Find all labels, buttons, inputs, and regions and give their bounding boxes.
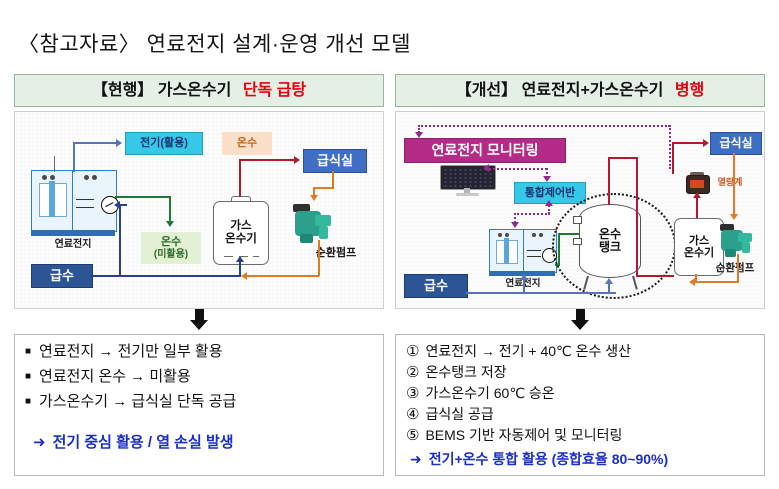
chip-hotwater-unused: 온수 (미활용)	[141, 232, 201, 264]
note-item: ② 온수탱크 저장	[406, 365, 756, 380]
control-line-top-h	[418, 125, 670, 127]
arrowhead-controller-up	[545, 200, 553, 206]
conclusion-text: 전기 중심 활용 / 열 손실 발생	[53, 431, 234, 452]
arrowhead-fuelcell-control	[511, 222, 519, 228]
note-item: ■ 연료전지 → 전기만 일부 활용	[25, 344, 375, 359]
chip-monitoring: 연료전지 모니터링	[404, 138, 566, 163]
panel-improved: 【개선】 연료전지+가스온수기 병행 연료전지 모니터링	[395, 74, 765, 309]
arrowhead-tank-inlet-bottom	[605, 278, 613, 284]
diagram-improved: 연료전지 모니터링 통합제어반	[395, 111, 765, 309]
flow-arrow-left	[14, 306, 384, 332]
page-title: 〈참고자료〉 연료전지 설계·운영 개선 모델	[18, 28, 411, 58]
bullet-icon: ■	[25, 372, 31, 382]
arrowhead-pump-left	[310, 195, 318, 201]
chip-cafeteria-left: 급식실	[303, 149, 367, 173]
note-text: 연료전지 → 전기만 일부 활용	[39, 344, 222, 359]
conclusion-text: 전기+온수 통합 활용 (종합효율 80~90%)	[429, 449, 668, 469]
note-item: ③ 가스온수기 60℃ 승온	[406, 386, 756, 401]
note-text: BEMS 기반 자동제어 및 모니터링	[425, 428, 622, 442]
gas-heater-line1-left: 가스	[230, 220, 251, 232]
gas-heater-line2-right: 온수기	[684, 247, 714, 259]
circulation-pump-left	[291, 204, 335, 244]
chip-cafeteria-right: 급식실	[710, 132, 762, 155]
pipe-pump-return-v	[318, 240, 320, 276]
pipe-heater-to-cafeteria-v	[239, 159, 241, 197]
panel-improved-header-main: 【개선】 연료전지+가스온수기	[456, 82, 664, 99]
slide-page: 〈참고자료〉 연료전지 설계·운영 개선 모델 【현행】 가스온수기 단독 급탕	[0, 0, 779, 489]
pipe-fuelcell-to-electricity-v	[73, 142, 75, 172]
note-item: ■ 연료전지 온수 → 미활용	[25, 369, 375, 384]
pipe-watersupply-right-h	[466, 292, 616, 294]
arrow-right-icon: ➜	[410, 451, 422, 468]
panel-improved-header-highlight: 병행	[675, 82, 704, 99]
conclusion-improved: ➜ 전기+온수 통합 활용 (종합효율 80~90%)	[410, 449, 756, 469]
heat-meter-icon	[686, 172, 708, 192]
pipe-cafeteria-to-pump-right-v	[733, 153, 735, 215]
flow-arrow-right	[395, 306, 765, 332]
note-text: 연료전지 → 전기 + 40℃ 온수 생산	[425, 344, 631, 358]
gas-heater-line2-left: 온수기	[225, 233, 257, 245]
note-item: ① 연료전지 → 전기 + 40℃ 온수 생산	[406, 344, 756, 359]
note-text: 가스온수기 → 급식실 단독 공급	[39, 394, 236, 409]
pipe-heater-to-cafeteria-h	[239, 159, 295, 161]
pipe-cafeteria-to-pump-v	[332, 171, 334, 188]
tank-nozzle-top	[573, 216, 582, 224]
arrowhead-pump-right	[730, 214, 738, 220]
arrow-right-icon: ➜	[33, 433, 46, 451]
pipe-meter-to-cafeteria-v	[672, 142, 674, 174]
pipe-heater-inlet-right	[695, 274, 697, 282]
fuelcell-base-left	[31, 230, 115, 236]
pipe-tank-to-heater-v	[636, 157, 638, 277]
note-item: ④ 급식실 공급	[406, 407, 756, 422]
tank-line2: 탱크	[599, 240, 621, 254]
panel-current: 【현행】 가스온수기 단독 급탕 연료전지	[14, 74, 384, 309]
pipe-fuelcell-to-electricity-h	[73, 142, 117, 144]
pump-label-left: 순환펌프	[303, 246, 369, 260]
arrowhead-cafeteria-right	[703, 139, 709, 147]
panel-improved-header: 【개선】 연료전지+가스온수기 병행	[395, 74, 765, 107]
arrowhead-return-left	[241, 272, 247, 280]
fuelcell-riser-left	[54, 156, 55, 172]
chip-hotwater-unused-line1: 온수	[161, 236, 181, 248]
pipe-tank-top-h	[608, 157, 638, 159]
note-number: ④	[406, 407, 419, 422]
bullet-icon: ■	[25, 397, 31, 407]
notes-current: ■ 연료전지 → 전기만 일부 활용 ■ 연료전지 온수 → 미활용 ■ 가스온…	[14, 334, 384, 476]
hotwater-tank: 온수 탱크	[579, 204, 641, 278]
note-number: ①	[406, 344, 419, 359]
pipe-tank-to-heater-h	[636, 275, 674, 277]
chip-watersupply-right: 급수	[404, 274, 468, 298]
conclusion-current: ➜ 전기 중심 활용 / 열 손실 발생	[33, 431, 375, 452]
pipe-pump-return-right-v	[737, 254, 739, 282]
control-line-top-right-v	[669, 125, 671, 169]
circulation-pump-right	[718, 224, 756, 258]
pipe-pump-return-right-h	[695, 281, 739, 283]
pipe-cafeteria-to-pump-h	[313, 187, 334, 189]
pipe-fuelcell-hotwater-v	[169, 196, 171, 222]
gas-heater-line1-right: 가스	[689, 235, 709, 247]
arrowhead-monitoring-left	[483, 164, 489, 172]
pipe-tank-top-v	[608, 157, 610, 205]
arrowhead-electricity	[116, 139, 122, 147]
pipe-watersupply-to-heater-v	[239, 262, 241, 276]
pump-label-right: 순환펌프	[706, 262, 764, 275]
panel-current-header: 【현행】 가스온수기 단독 급탕	[14, 74, 384, 107]
pipe-watersupply-to-fuelcell-right	[523, 280, 525, 293]
notes-improved: ① 연료전지 → 전기 + 40℃ 온수 생산 ② 온수탱크 저장 ③ 가스온수…	[395, 334, 765, 476]
note-number: ⑤	[406, 428, 419, 443]
arrowhead-cafeteria-left	[294, 156, 300, 164]
note-text: 급식실 공급	[425, 407, 493, 421]
note-item: ■ 가스온수기 → 급식실 단독 공급	[25, 394, 375, 409]
note-text: 온수탱크 저장	[425, 365, 506, 379]
note-number: ③	[406, 386, 419, 401]
control-line-controller-to-monitoring	[489, 168, 547, 170]
chip-electricity: 전기(활용)	[125, 132, 203, 155]
fuelcell-label-left: 연료전지	[41, 238, 105, 251]
arrowhead-heater-inlet	[236, 256, 244, 262]
bullet-icon: ■	[25, 347, 31, 357]
panel-current-header-highlight: 단독 급탕	[243, 82, 306, 99]
tank-nozzle-mid	[573, 238, 582, 245]
arrowhead-meter-inlet	[693, 192, 701, 198]
pipe-watersupply-to-tank-right	[608, 284, 610, 293]
pipe-watersupply-h	[91, 275, 241, 277]
arrowhead-fuelcell-inlet-left	[114, 201, 120, 209]
note-number: ②	[406, 365, 419, 380]
chip-hotwater-unused-line2: (미활용)	[154, 249, 188, 260]
pipe-fuelcell-hotwater-h	[115, 196, 171, 198]
heat-meter-label: 열량계	[710, 176, 750, 188]
pipe-heater-to-meter-v	[696, 198, 698, 218]
diagram-current: 연료전지 전기(활용) 온수 (미활용) 온수 가스 온수기	[14, 111, 384, 309]
note-item: ⑤ BEMS 기반 자동제어 및 모니터링	[406, 428, 756, 443]
arrowhead-hotwater-unused	[166, 221, 174, 227]
panel-current-header-main: 【현행】 가스온수기	[92, 82, 232, 99]
arrowhead-fuelcell-inlet-right	[520, 274, 528, 280]
pipe-watersupply-to-fuelcell-v	[119, 204, 121, 276]
control-line-controller-to-fuelcell-h	[514, 213, 550, 215]
chip-hotwater: 온수	[222, 132, 272, 155]
note-text: 연료전지 온수 → 미활용	[39, 369, 191, 384]
note-text: 가스온수기 60℃ 승온	[425, 386, 554, 400]
pipe-meter-to-cafeteria-h	[672, 142, 704, 144]
chip-watersupply-left: 급수	[31, 264, 93, 288]
pipe-pump-return-h	[247, 275, 319, 277]
pipe-watersupply-fuelcell-h	[119, 204, 127, 206]
